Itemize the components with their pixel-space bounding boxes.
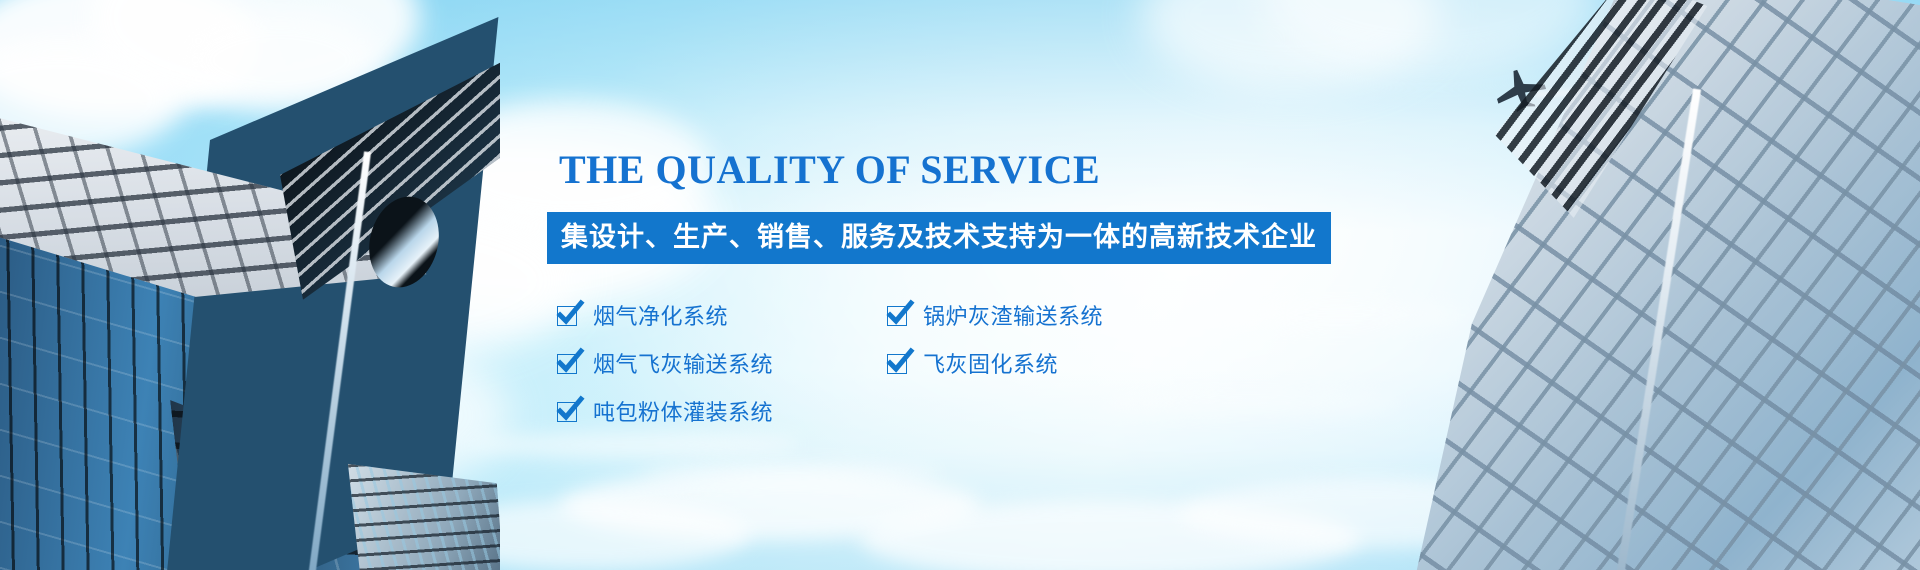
feature-label: 烟气飞灰输送系统: [593, 354, 773, 376]
feature-item[interactable]: 飞灰固化系统: [887, 354, 1407, 376]
checkbox-checked-icon: [887, 306, 909, 328]
right-building-photo: [1360, 0, 1920, 570]
feature-item[interactable]: 锅炉灰渣输送系统: [887, 306, 1407, 328]
feature-item[interactable]: 烟气净化系统: [557, 306, 887, 328]
banner-tagline: 集设计、生产、销售、服务及技术支持为一体的高新技术企业: [547, 212, 1331, 264]
checkbox-checked-icon: [557, 306, 579, 328]
feature-label: 锅炉灰渣输送系统: [923, 306, 1103, 328]
checkbox-checked-icon: [557, 354, 579, 376]
banner-content: THE QUALITY OF SERVICE 集设计、生产、销售、服务及技术支持…: [547, 150, 1407, 424]
banner-headline: THE QUALITY OF SERVICE: [559, 150, 1407, 190]
left-building-photo: [0, 0, 500, 570]
feature-label: 烟气净化系统: [593, 306, 728, 328]
checkbox-checked-icon: [557, 402, 579, 424]
hero-banner: THE QUALITY OF SERVICE 集设计、生产、销售、服务及技术支持…: [0, 0, 1920, 570]
checkbox-checked-icon: [887, 354, 909, 376]
feature-item[interactable]: 烟气飞灰输送系统: [557, 354, 887, 376]
feature-label: 飞灰固化系统: [923, 354, 1058, 376]
feature-list: 烟气净化系统 锅炉灰渣输送系统 烟气飞灰输送系统: [557, 306, 1407, 424]
feature-label: 吨包粉体灌装系统: [593, 402, 773, 424]
feature-item[interactable]: 吨包粉体灌装系统: [557, 402, 887, 424]
